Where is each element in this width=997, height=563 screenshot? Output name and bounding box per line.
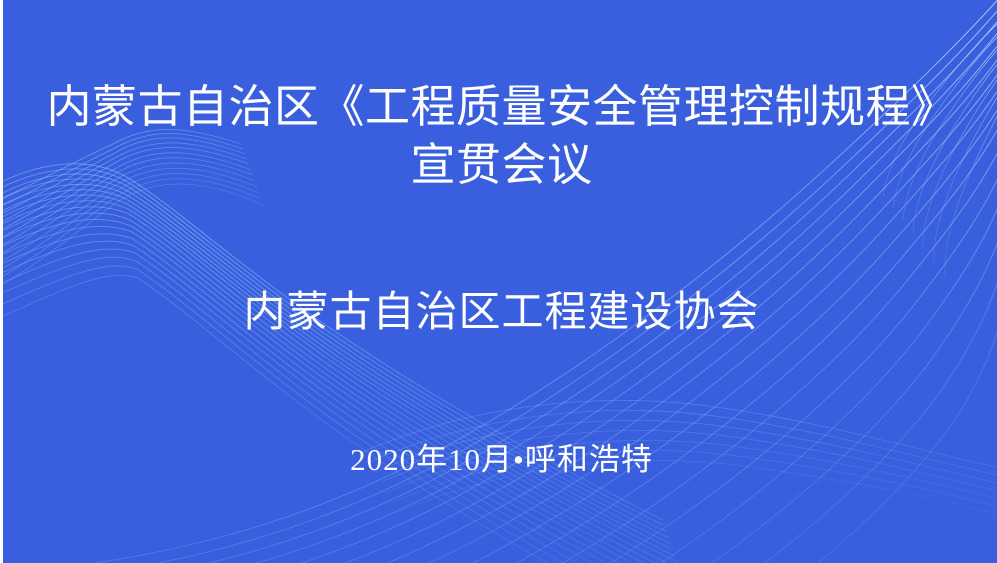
slide-text-layer: 内蒙古自治区《工程质量安全管理控制规程》 宣贯会议 内蒙古自治区工程建设协会 2… <box>3 0 997 563</box>
title-line-1: 内蒙古自治区《工程质量安全管理控制规程》 <box>3 78 997 136</box>
presentation-slide: 内蒙古自治区《工程质量安全管理控制规程》 宣贯会议 内蒙古自治区工程建设协会 2… <box>0 0 997 563</box>
date-location-text: 2020年10月•呼和浩特 <box>3 440 997 480</box>
organization-subtitle: 内蒙古自治区工程建设协会 <box>3 288 997 338</box>
subtitle-line-1: 内蒙古自治区工程建设协会 <box>3 288 997 338</box>
title-line-2: 宣贯会议 <box>3 136 997 194</box>
page-title: 内蒙古自治区《工程质量安全管理控制规程》 宣贯会议 <box>3 78 997 194</box>
date-location-footer: 2020年10月•呼和浩特 <box>3 440 997 480</box>
